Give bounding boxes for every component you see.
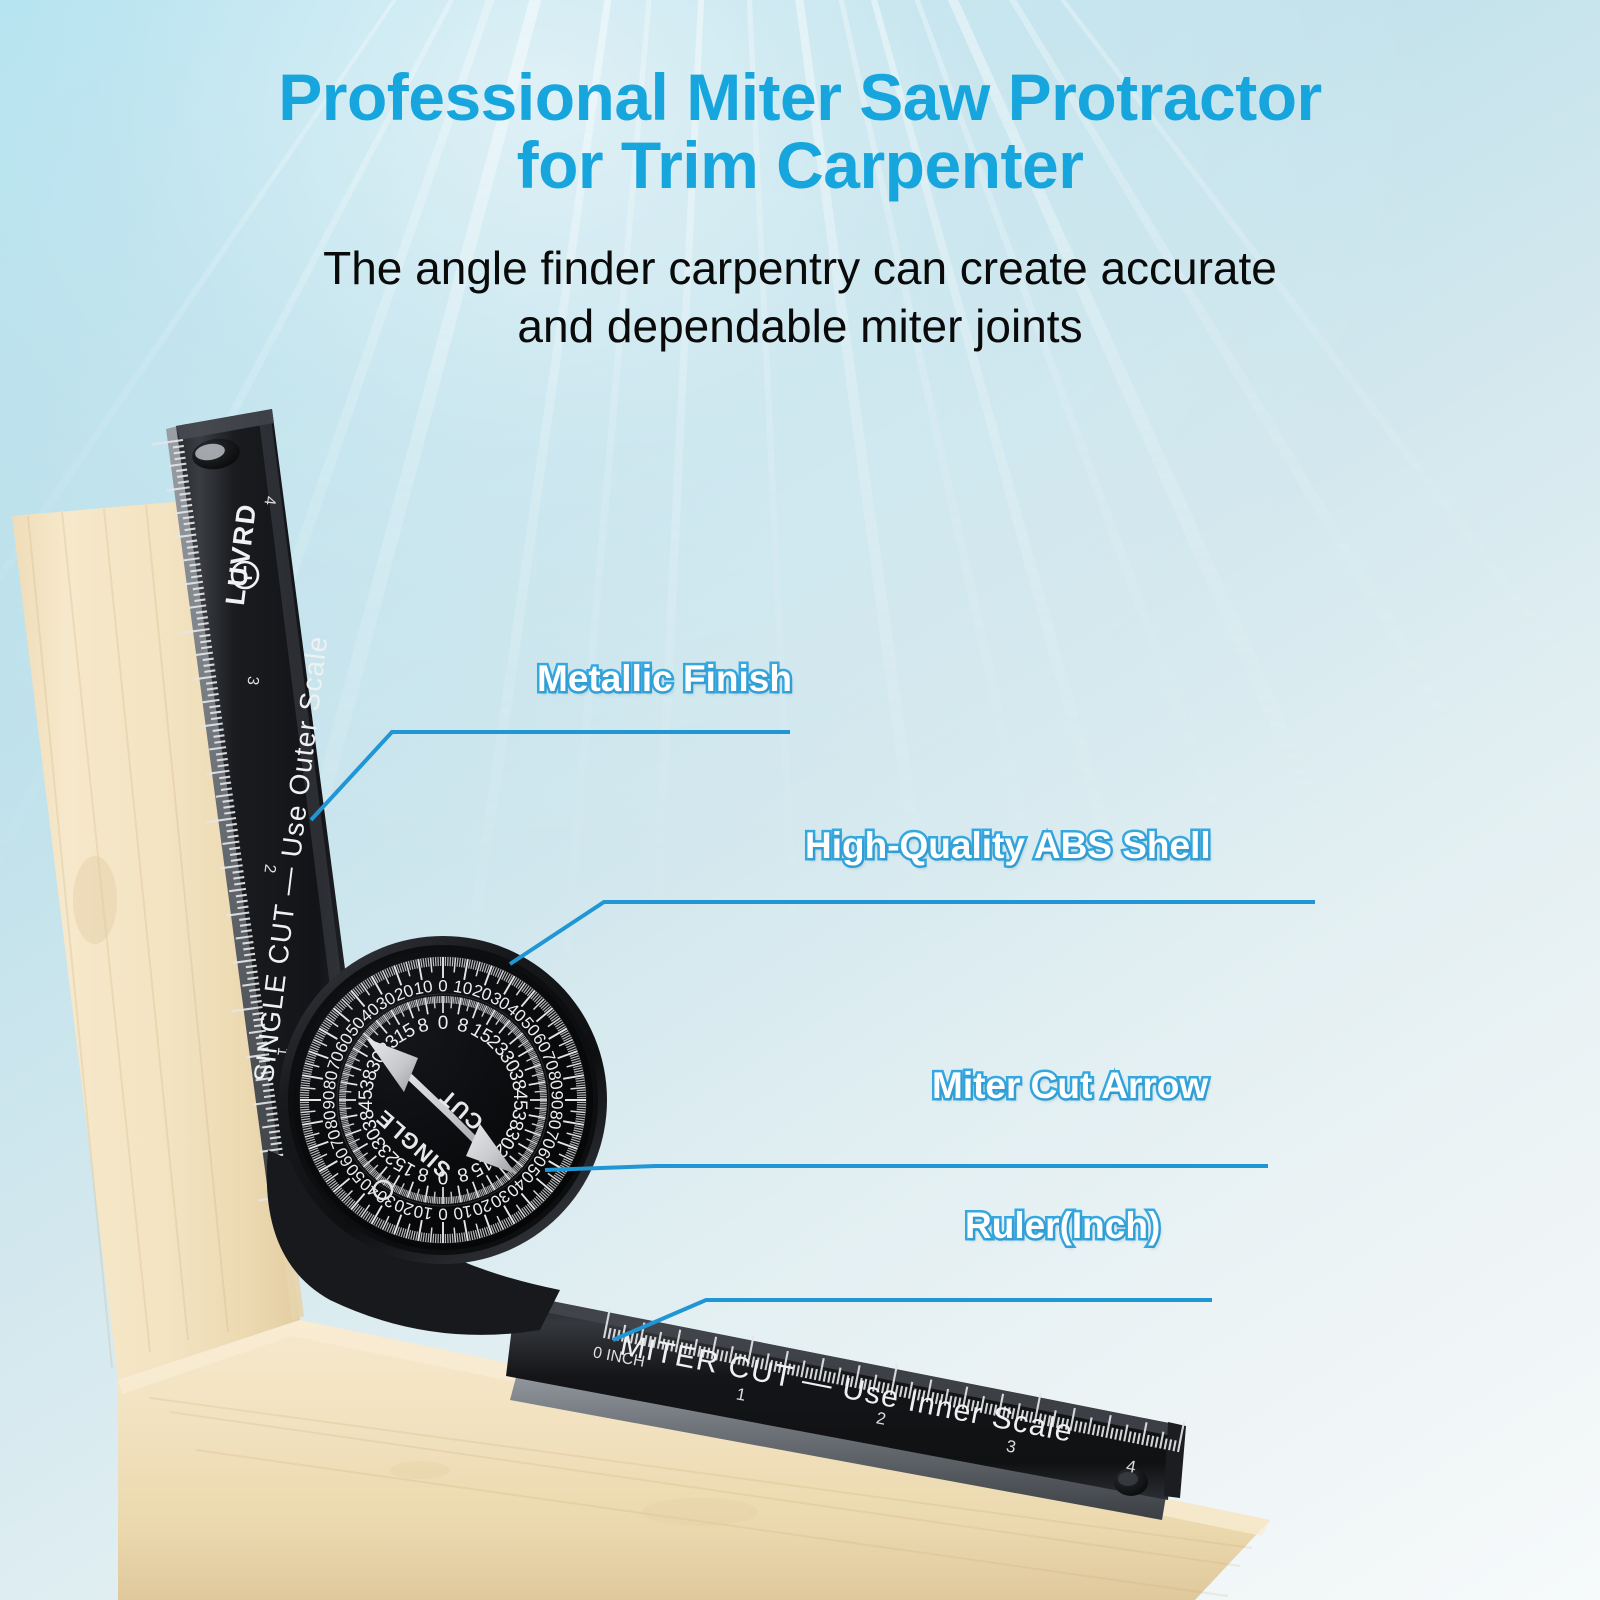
svg-text:10: 10 [412, 977, 434, 999]
callout-label-metallic-finish: Metallic Finish [537, 658, 792, 700]
svg-text:0: 0 [438, 1013, 449, 1034]
svg-text:80: 80 [320, 1109, 342, 1131]
protractor-dial: 0102030405060708090807060504030201001020… [267, 936, 607, 1335]
svg-text:0: 0 [438, 976, 447, 995]
svg-text:80: 80 [544, 1069, 566, 1091]
svg-text:10: 10 [452, 1201, 474, 1223]
callout-label-abs-shell: High-Quality ABS Shell [805, 825, 1211, 867]
infographic-canvas: Professional Miter Saw Protractor for Tr… [0, 0, 1600, 1600]
svg-text:90: 90 [319, 1091, 338, 1110]
callout-label-ruler-inch: Ruler(Inch) [965, 1205, 1160, 1247]
svg-text:0: 0 [438, 1205, 447, 1224]
callout-label-miter-cut-arrow: Miter Cut Arrow [932, 1065, 1208, 1107]
svg-text:90: 90 [548, 1091, 567, 1110]
product-photo: 4 3 2 1 0 INCH SINGLE CUT — Use Outer Sc… [0, 0, 1600, 1600]
